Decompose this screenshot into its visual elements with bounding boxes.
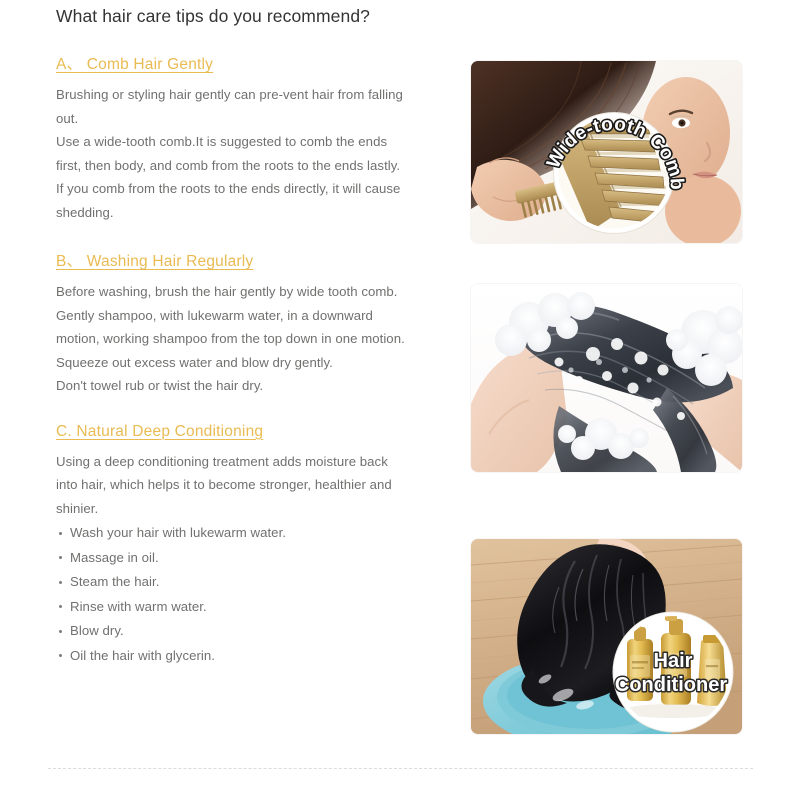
page-title: What hair care tips do you recommend? [56, 6, 370, 27]
section-a-line-1: Brushing or styling hair gently can pre-… [56, 83, 406, 130]
section-comb-hair-gently: A、 Comb Hair Gently Brushing or styling … [56, 52, 406, 224]
section-b-line-1: Before washing, brush the hair gently by… [56, 280, 406, 304]
list-item: Oil the hair with glycerin. [56, 644, 406, 669]
section-b-line-4: Don't towel rub or twist the hair dry. [56, 374, 406, 398]
hair-conditioner-callout-line2: Conditioner [615, 674, 727, 696]
section-a-heading: A、 Comb Hair Gently [56, 52, 213, 74]
washing-hair-photo [471, 284, 742, 472]
tips-text-column: A、 Comb Hair Gently Brushing or styling … [56, 52, 406, 693]
combing-hair-photo: Wide-tooth Comb [471, 61, 742, 243]
section-washing-hair-regularly: B、 Washing Hair Regularly Before washing… [56, 249, 406, 398]
section-a-line-2: Use a wide-tooth comb.It is suggested to… [56, 130, 406, 177]
page-root: What hair care tips do you recommend? A、… [0, 0, 800, 790]
section-a-line-3: If you comb from the roots to the ends d… [56, 177, 406, 224]
hair-conditioner-callout-line1: Hair [654, 650, 693, 672]
section-b-line-3: Squeeze out excess water and blow dry ge… [56, 351, 406, 375]
deep-conditioning-photo: Hair Conditioner [471, 539, 742, 734]
conditioning-steps-list: Wash your hair with lukewarm water. Mass… [56, 521, 406, 668]
list-item: Massage in oil. [56, 546, 406, 571]
list-item: Wash your hair with lukewarm water. [56, 521, 406, 546]
section-b-heading: B、 Washing Hair Regularly [56, 249, 253, 271]
section-b-line-2: Gently shampoo, with lukewarm water, in … [56, 304, 406, 351]
section-c-heading: C. Natural Deep Conditioning [56, 423, 263, 441]
section-natural-deep-conditioning: C. Natural Deep Conditioning Using a dee… [56, 423, 406, 669]
list-item: Blow dry. [56, 619, 406, 644]
section-c-line-1: Using a deep conditioning treatment adds… [56, 450, 406, 521]
list-item: Steam the hair. [56, 570, 406, 595]
list-item: Rinse with warm water. [56, 595, 406, 620]
bottom-dashed-divider [48, 768, 753, 769]
